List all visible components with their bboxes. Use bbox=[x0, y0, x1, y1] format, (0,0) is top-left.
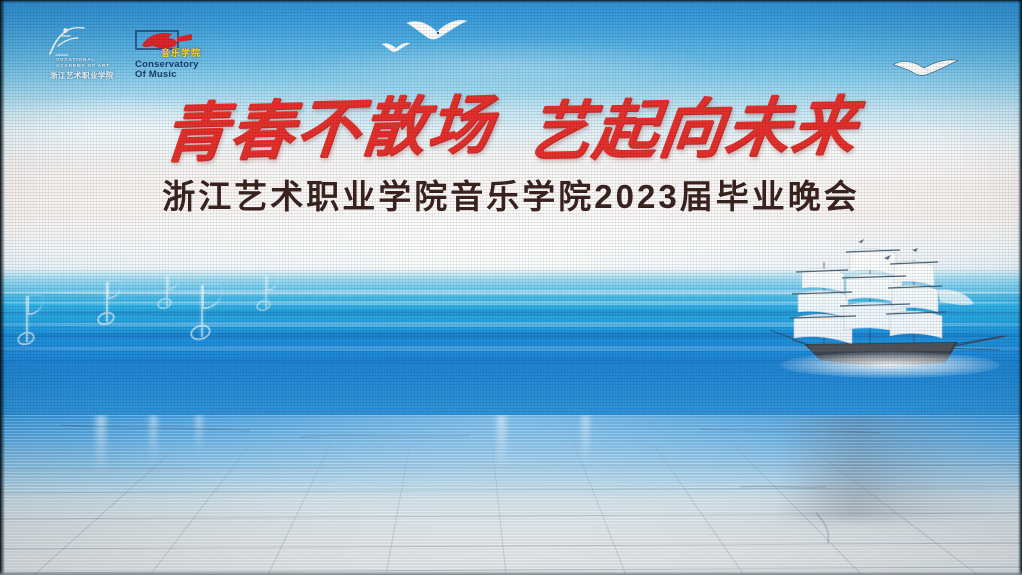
eighth-note-4 bbox=[201, 285, 223, 337]
headline-phrase-1: 青春不散场 bbox=[159, 73, 499, 174]
note-flag bbox=[202, 285, 221, 309]
note-flag bbox=[107, 282, 120, 299]
eighth-note-3 bbox=[166, 276, 180, 306]
note-flag bbox=[27, 296, 42, 315]
led-screen: VOCATIONAL ACADEMY OF ART 浙江艺术职业学院 音乐学院 … bbox=[0, 0, 1022, 415]
stage-floor bbox=[0, 415, 1022, 575]
tall-sailing-ship bbox=[762, 232, 1012, 392]
academy-logo: VOCATIONAL ACADEMY OF ART 浙江艺术职业学院 bbox=[44, 24, 124, 82]
academy-logo-en-line1: VOCATIONAL bbox=[56, 57, 95, 62]
headline-phrase-2: 艺起向未来 bbox=[522, 75, 864, 173]
eighth-note-2 bbox=[106, 282, 122, 322]
floor-tile-grid bbox=[0, 415, 1022, 575]
note-flag bbox=[266, 276, 277, 291]
event-subtitle: 浙江艺术职业学院音乐学院2023届毕业晚会 bbox=[0, 170, 1022, 218]
seagull-large-center bbox=[405, 14, 469, 48]
eighth-note-1 bbox=[26, 296, 44, 342]
eighth-note-5 bbox=[265, 276, 279, 308]
academy-logo-en-line2: ACADEMY OF ART bbox=[56, 63, 110, 68]
stage-backdrop-photo: VOCATIONAL ACADEMY OF ART 浙江艺术职业学院 音乐学院 … bbox=[0, 0, 1022, 575]
conservatory-logo: 音乐学院 Conservatory Of Music bbox=[134, 28, 239, 82]
conservatory-logo-cn: 音乐学院 bbox=[161, 46, 201, 59]
seagull-small-center bbox=[381, 40, 411, 56]
note-flag bbox=[167, 276, 178, 290]
headline-calligraphy: 青春不散场艺起向未来 bbox=[0, 78, 1022, 170]
ship-wake bbox=[780, 352, 1000, 378]
